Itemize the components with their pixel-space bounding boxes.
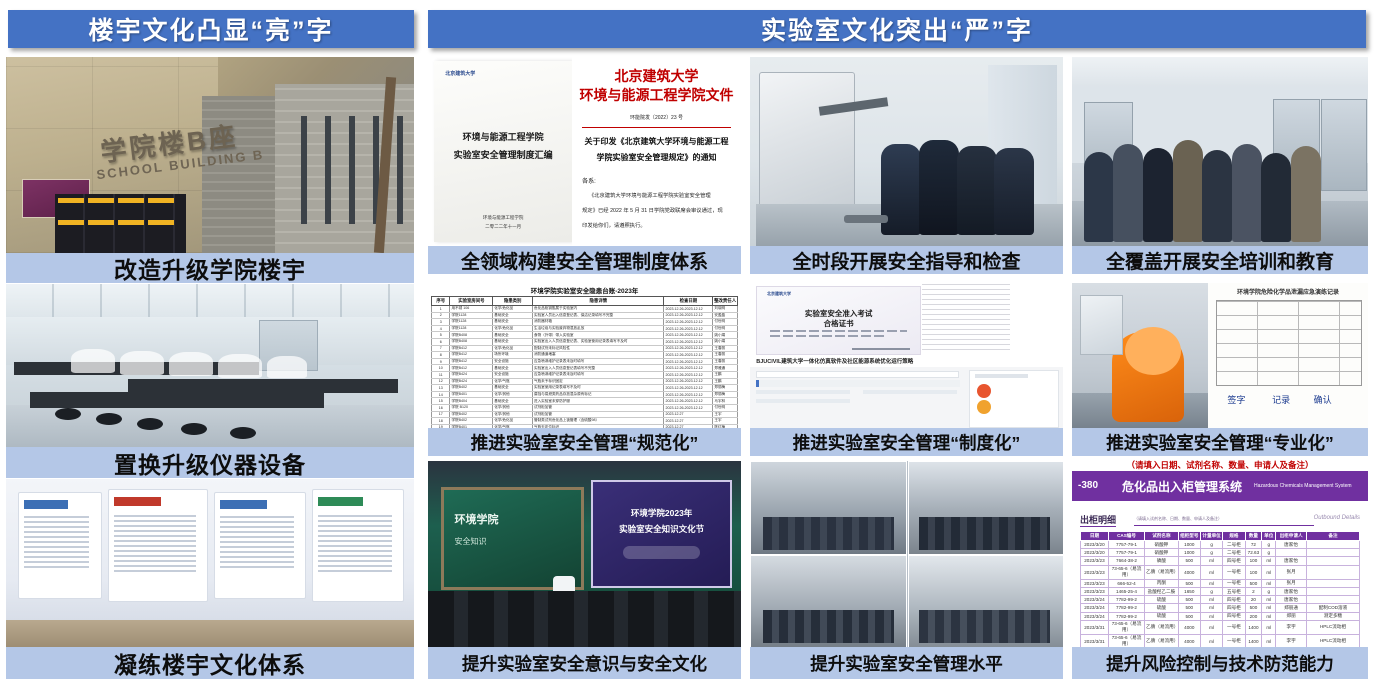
document-body-2: 规定》已经 2022 年 5 月 31 日学院党政联席会审议通过，现 <box>582 206 723 214</box>
slide-root: 楼宇文化凸显“亮”字 实验室文化突出“严”字 学院楼B座 SCHOOL BUIL… <box>0 0 1374 689</box>
cover-line-2: 实验室安全管理制度汇编 <box>434 148 572 161</box>
equipment-cover-3 <box>169 352 213 376</box>
caption-standardized-lab-safety: 推进实验室安全管理“规范化” <box>428 428 741 456</box>
caption-full-coverage-safety-training: 全覆盖开展安全培训和教育 <box>1072 246 1368 274</box>
caption-text: 全领域构建安全管理制度体系 <box>461 247 708 274</box>
ledger-table: 序号实验室房间号隐患类别隐患详情检查日期整改责任人 1用不锈 106化学/危化品… <box>431 296 738 428</box>
seminar-classroom-grid-photo <box>750 461 1063 647</box>
person-2 <box>919 140 959 235</box>
table-row: 17学院B402化学/其他试剂柜加管2023.12.27王宇 <box>432 411 738 418</box>
chem-col-8: 单位 <box>1262 532 1276 541</box>
safety-knowledge-contest-photo: 环境学院 安全知识 环境学院2023年 实验室安全知识文化节 <box>428 461 741 647</box>
culture-panel-2 <box>108 489 208 602</box>
ledger-title: 环境学院实验室安全隐患台账-2023年 <box>428 285 741 295</box>
table-row: 1用不锈 106化学/危化品危化品柜钥匙属于实验室内2023.12.26-202… <box>432 306 738 313</box>
audience-row-2 <box>919 517 1050 550</box>
table-row: 6学院B408基础安全实验室出入人员信息登记表、实验室使用记录表填写不及时202… <box>432 338 738 345</box>
trainee-8 <box>1291 146 1321 242</box>
school-building-facade-photo: 学院楼B座 SCHOOL BUILDING B <box>6 57 414 253</box>
hazardous-chemicals-system-photo: （请填入日期、试剂名称、数量、申请人及备注） -380 危化品出入柜管理系统 H… <box>1072 455 1368 647</box>
document-subject-line-2: 学院实验室安全管理规定》的通知 <box>579 152 734 163</box>
section-header-left: 楼宇文化凸显“亮”字 <box>8 10 414 48</box>
caption-text: 推进实验室安全管理“规范化” <box>471 430 699 455</box>
safety-exam-certificate-photo: 北京建筑大学 实验室安全准入考试 合格证书 BJUCIVIL建筑大学一体化仿真软… <box>750 283 1063 428</box>
system-window-body <box>750 367 1063 428</box>
table-row: 2023/3/207757-79-1硝酸钾1000g二号柜72.63g <box>1081 549 1360 557</box>
certificate-seal-text: 北京建筑大学 <box>767 291 791 297</box>
caption-text: 全覆盖开展安全培训和教育 <box>1106 247 1334 274</box>
document-body-1: 《北京建筑大学环境与能源工程学院实验室安全管理 <box>589 191 711 199</box>
chalkboard: 环境学院 安全知识 <box>441 487 585 590</box>
chem-col-7: 数量 <box>1245 532 1262 541</box>
lab-stool-3 <box>137 418 163 430</box>
lab-stool-round <box>844 215 888 223</box>
table-row: 2学院1128基础安全实验室人员出入信息登记表、保洁记录填写不完整2023.12… <box>432 312 738 319</box>
certificate-card: 北京建筑大学 实验室安全准入考试 合格证书 <box>756 286 921 355</box>
table-row: 2023/3/247782-99-2硫酸500ml四号柜500ml郑丽通配制CO… <box>1081 604 1360 612</box>
table-row: 2023/3/247782-99-2硫酸500ml四号柜20ml唐家怡 <box>1081 596 1360 604</box>
caption-text: 推进实验室安全管理“制度化” <box>793 430 1021 455</box>
trainee-5 <box>1202 150 1232 243</box>
safety-training-crowd-photo <box>1072 57 1368 246</box>
table-row: 8学院B412场所环境消防通道堵塞2023.12.26-2023.12.12王春… <box>432 352 738 359</box>
caption-improve-risk-control: 提升风险控制与技术防范能力 <box>1072 647 1368 679</box>
caption-text: 推进实验室安全管理“专业化” <box>1106 430 1334 455</box>
caption-text: 提升风险控制与技术防范能力 <box>1106 651 1334 676</box>
culture-wall-photo <box>6 479 414 647</box>
cover-line-1: 环境与能源工程学院 <box>434 130 572 143</box>
caption-building-culture-system: 凝练楼宇文化体系 <box>6 647 414 679</box>
document-body-3: 印发给你们，请遵照执行。 <box>582 221 646 229</box>
caption-text: 全时段开展安全指导和检查 <box>792 247 1020 274</box>
trainee-7 <box>1261 153 1291 242</box>
chem-section-rule <box>1134 525 1314 526</box>
lab-bench-3 <box>30 392 324 408</box>
chem-col-1: 日期 <box>1081 532 1109 541</box>
culture-panel-4 <box>312 489 404 602</box>
chem-system-title-cn: 危化品出入柜管理系统 <box>1122 478 1242 495</box>
cover-footer-1: 环境与能源工程学院 <box>434 215 572 221</box>
table-row: 16学院 B120化学/其他试剂柜加管2023.12.26-2023.12.12… <box>432 404 738 411</box>
laboratory-benches-photo <box>6 284 414 447</box>
certificate-issuer-line <box>852 348 911 350</box>
trainee-2 <box>1113 144 1143 242</box>
hazmat-helmet <box>1125 327 1181 375</box>
caption-full-domain-safety-system: 全领域构建安全管理制度体系 <box>428 246 741 274</box>
person-3 <box>957 146 997 235</box>
certificate-line-2: 合格证书 <box>757 318 920 329</box>
chem-system-code: -380 <box>1078 480 1098 491</box>
caption-text: 置换升级仪器设备 <box>114 446 306 480</box>
emergency-drill-record-photo: 环境学院危险化学品泄漏应急演练记录 签字 记录 确认 <box>1072 283 1368 428</box>
table-row: 2023/3/23666-52-4丙酮500ml一号柜500ml张月 <box>1081 579 1360 587</box>
user-avatar-1 <box>977 384 991 398</box>
institutional-document-photo: 北京建筑大学 环境与能源工程学院 实验室安全管理制度汇编 环境与能源工程学院 二… <box>428 57 741 246</box>
table-row: 2023/3/3173-65-6（易流用）乙腈（易流用）4000ml一号柜140… <box>1081 634 1360 647</box>
corridor-ceiling <box>1072 57 1368 91</box>
handwriting-1: 签字 <box>1227 393 1245 406</box>
section-header-left-text: 楼宇文化凸显“亮”字 <box>88 11 333 47</box>
screen-badge <box>623 546 700 558</box>
audience-row-3 <box>763 610 894 643</box>
table-row: 2023/3/247782-99-2硫酸500ml四号柜200ml郑丽测定多糖 <box>1081 612 1360 620</box>
screen-line-1: 环境学院2023年 <box>593 507 731 519</box>
document-notice-page: 北京建筑大学 环境与能源工程学院文件 环能院发〔2022〕23 号 关于印发《北… <box>572 57 741 246</box>
chem-col-10: 备注 <box>1306 532 1359 541</box>
drill-form-title: 环境学院危险化学品泄漏应急演练记录 <box>1218 287 1359 296</box>
chem-system-title-bar: -380 危化品出入柜管理系统 Hazardous Chemicals Mana… <box>1072 471 1368 501</box>
audience-heads-row <box>428 591 741 647</box>
table-row: 2023/3/2373-65-6（易流用）乙腈（易流用）4000ml一号柜100… <box>1081 565 1360 579</box>
caption-professionalized-lab-safety: 推进实验室安全管理“专业化” <box>1072 428 1368 456</box>
chem-col-4: 组柜型号 <box>1178 532 1200 541</box>
drill-form-grid <box>1216 300 1362 386</box>
hazard-ledger-table-photo: 环境学院实验室安全隐患台账-2023年 序号实验室房间号隐患类别隐患详情检查日期… <box>428 283 741 428</box>
culture-panel-1 <box>18 492 102 598</box>
ledger-col-1: 序号 <box>432 297 450 306</box>
table-row: 12学院B424化学/气瓶气瓶未予标识固定2023.12.26-2023.12.… <box>432 378 738 385</box>
chem-col-5: 计量单位 <box>1200 532 1222 541</box>
ledger-col-2: 实验室房间号 <box>450 297 493 306</box>
table-row: 11学院B424安全设施应急喷淋维护记录表未及时填写2023.12.26-202… <box>432 371 738 378</box>
system-sidebar-panel <box>969 370 1059 428</box>
chem-col-3: 试剂名称 <box>1145 532 1178 541</box>
table-row: 10学院B412基础安全实验室出入人员信息登记表填写不完整2023.12.26-… <box>432 365 738 372</box>
system-field-1 <box>756 390 850 394</box>
chem-col-2: CAS编号 <box>1108 532 1144 541</box>
audience-row-4 <box>919 610 1050 643</box>
table-row: 14学院B401化学/其他腐蚀与易燃类药品存放混杂原有标记2023.12.26-… <box>432 391 738 398</box>
chem-col-6: 规格 <box>1223 532 1245 541</box>
document-number: 环能院发〔2022〕23 号 <box>572 114 741 121</box>
table-row: 3学院1128基础安全消防器材箱2023.12.26-2023.12.12付世明 <box>432 319 738 326</box>
handwriting-2: 记录 <box>1272 393 1290 406</box>
culture-wall-floor <box>6 620 414 647</box>
document-title-line-1: 北京建筑大学 <box>572 66 741 86</box>
caption-text: 提升实验室安全意识与安全文化 <box>462 651 707 676</box>
audience-row-1 <box>763 517 894 550</box>
section-header-right-text: 实验室文化突出“严”字 <box>761 11 1033 47</box>
projection-screen: 环境学院2023年 实验室安全知识文化节 <box>591 480 733 588</box>
person-4 <box>994 148 1034 235</box>
lab-stool-1 <box>55 408 81 420</box>
table-row: 18学院B402化学/危化品管制类试剂危化品上锁管理（含硫酸98）2023.12… <box>432 418 738 425</box>
lab-stool-4 <box>181 423 207 435</box>
lab-hood <box>1080 295 1123 355</box>
ledger-col-6: 整改责任人 <box>713 297 737 306</box>
instrument-room-inspection-photo <box>750 57 1063 246</box>
analytical-instrument <box>759 72 855 214</box>
system-toolbar[interactable] <box>756 371 958 378</box>
chem-table-header-row: 日期CAS编号试剂名称组柜型号计量单位规格数量单位出柜申请人备注 <box>1081 532 1360 541</box>
building-directory-board <box>55 194 186 253</box>
table-row: 4学院1128化学/危化品生活垃圾与实验废弃物混放乱放2023.12.26-20… <box>432 325 738 332</box>
trainee-4 <box>1173 140 1203 242</box>
document-subject-line-1: 关于印发《北京建筑大学环境与能源工程 <box>579 136 734 147</box>
document-red-rule <box>582 127 731 129</box>
background-data-table <box>922 284 1010 354</box>
ledger-header-row: 序号实验室房间号隐患类别隐患详情检查日期整改责任人 <box>432 297 738 306</box>
trainee-1 <box>1084 152 1114 243</box>
table-row: 2023/3/207757-79-1硝酸钾1000g二号柜72g唐家怡 <box>1081 541 1360 549</box>
culture-panel-3 <box>214 492 306 598</box>
document-salutation: 各系: <box>582 176 596 185</box>
system-field-2 <box>863 390 957 394</box>
caption-institutionalized-lab-safety: 推进实验室安全管理“制度化” <box>750 428 1063 456</box>
caption-full-time-safety-inspection: 全时段开展安全指导和检查 <box>750 246 1063 274</box>
table-row: 13学院B402基础安全实验室使用记录表填写不及时2023.12.26-2023… <box>432 385 738 392</box>
system-section-header <box>756 380 959 386</box>
hazmat-drill-scene <box>1072 283 1208 428</box>
equipment-cover-1 <box>71 349 115 373</box>
table-row: 15学院B404基础安全进入实验室未穿防护服2023.12.26-2023.12… <box>432 398 738 405</box>
caption-text: 改造升级学院楼宇 <box>114 251 306 285</box>
section-header-right: 实验室文化突出“严”字 <box>428 10 1366 48</box>
certificate-text-line-1 <box>770 330 907 332</box>
ledger-col-5: 检查日期 <box>664 297 713 306</box>
caption-upgrade-college-building: 改造升级学院楼宇 <box>6 253 414 283</box>
ledger-col-3: 隐患类别 <box>493 297 533 306</box>
equipment-cover-4 <box>218 354 262 378</box>
chem-system-title-en: Hazardous Chemicals Management System <box>1254 483 1352 489</box>
lab-stool-2 <box>96 413 122 425</box>
system-window-title: BJUCIVIL建筑大学一体化仿真软件及社区能源系统优化运行策略 <box>756 357 913 365</box>
handwriting-3: 确认 <box>1314 393 1332 406</box>
chem-notice-text: （请填入日期、试剂名称、数量、申请人及备注） <box>1081 459 1359 471</box>
document-title-line-2: 环境与能源工程学院文件 <box>572 85 741 105</box>
trainee-6 <box>1232 144 1262 242</box>
caption-text: 凝练楼宇文化体系 <box>114 646 306 680</box>
table-row: 7学院B412化学/危化品配制试剂未标记风险性2023.12.26-2023.1… <box>432 345 738 352</box>
caption-replace-upgrade-equipment: 置换升级仪器设备 <box>6 447 414 478</box>
cover-footer-2: 二零二二年十一月 <box>434 224 572 230</box>
table-row: 2023/3/237664-38-2磷酸500ml四号柜100ml唐家怡 <box>1081 557 1360 565</box>
chem-outbound-table: 日期CAS编号试剂名称组柜型号计量单位规格数量单位出柜申请人备注 2023/3/… <box>1080 531 1360 647</box>
lab-ceiling-lights <box>6 284 414 320</box>
system-field-3 <box>756 399 850 403</box>
chem-section-hint: （请填入试剂名称、日期、数量、申请人及备注） <box>1134 516 1222 522</box>
table-row: 2023/3/231465-25-4盐酸羟乙二胺1650g五号柜2g唐家怡 <box>1081 587 1360 595</box>
equipment-cover-2 <box>120 351 164 375</box>
equipment-cover-5 <box>267 356 307 378</box>
document-cover-page: 北京建筑大学 环境与能源工程学院 实验室安全管理制度汇编 环境与能源工程学院 二… <box>434 61 572 242</box>
chem-section-title-cn: 出柜明细 <box>1080 513 1116 527</box>
chem-col-9: 出柜申请人 <box>1276 532 1307 541</box>
chem-section-title-en: Outbound Details <box>1314 515 1360 521</box>
table-row: 2023/3/3173-65-6（易流用）乙腈（易流用）4000ml一号柜140… <box>1081 620 1360 634</box>
caption-improve-safety-awareness: 提升实验室安全意识与安全文化 <box>428 647 741 679</box>
user-avatar-2 <box>977 400 991 414</box>
trainee-3 <box>1143 148 1173 243</box>
drill-record-form: 环境学院危险化学品泄漏应急演练记录 签字 记录 确认 <box>1208 283 1368 428</box>
screen-line-2: 实验室安全知识文化节 <box>593 523 731 535</box>
caption-improve-safety-management: 提升实验室安全管理水平 <box>750 647 1063 679</box>
certificate-text-line-2 <box>770 335 884 337</box>
caption-text: 提升实验室安全管理水平 <box>810 651 1003 676</box>
table-row: 9学院B412安全设施应急喷淋维护记录表未及时填写2023.12.26-2023… <box>432 358 738 365</box>
sidebar-tab-1[interactable] <box>975 374 1028 378</box>
equipment-cabinet-3 <box>1321 99 1367 192</box>
ledger-col-4: 隐患详情 <box>533 297 664 306</box>
university-seal-text: 北京建筑大学 <box>445 70 475 77</box>
table-row: 5学院B408基础安全食物（外带）带入实验室2023.12.26-2023.12… <box>432 332 738 339</box>
